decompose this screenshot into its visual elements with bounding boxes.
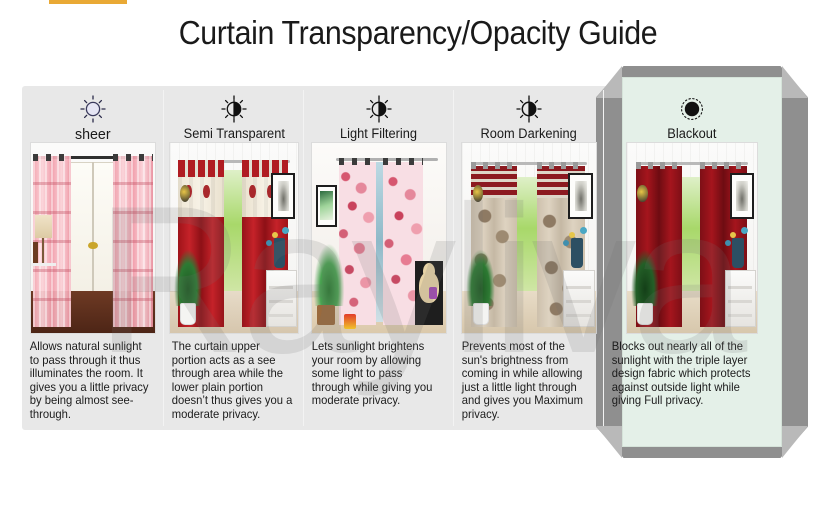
column-light-filtering[interactable]: Light Filtering: [304, 86, 454, 430]
column-caption: Prevents most of the sun's brightness fr…: [454, 340, 600, 422]
column-caption: Allows natural sunlight to pass through …: [22, 340, 160, 422]
column-label: sheer: [75, 126, 111, 143]
page-title: Curtain Transparency/Opacity Guide: [33, 14, 802, 52]
column-header-sheer: sheer: [22, 86, 164, 142]
box-bevel-top-right: [782, 66, 808, 98]
column-header-room-darkening: Room Darkening: [454, 86, 604, 142]
sun-mostly-filled-icon: [512, 94, 546, 124]
column-room-darkening[interactable]: Room Darkening: [454, 86, 604, 430]
curtain-photo-light-filtering: [311, 142, 447, 334]
column-caption: The curtain upper portion acts as a see …: [164, 340, 300, 422]
box-bevel-bottom-right: [782, 426, 808, 458]
column-label: Semi Transparent: [183, 126, 284, 141]
curtain-photo-blackout: [626, 142, 758, 334]
curtain-photo-sheer: [30, 142, 156, 334]
column-header-blackout: Blackout: [604, 86, 780, 142]
column-blackout[interactable]: Blackout Blocks out nea: [604, 86, 780, 430]
column-label: Light Filtering: [340, 126, 417, 141]
sun-half-filled-icon: [217, 94, 251, 124]
sun-solid-filled-icon: [675, 94, 709, 124]
sun-half-filled-icon: [362, 94, 396, 124]
top-accent-bar: [49, 0, 127, 4]
curtain-photo-semi-transparent: [169, 142, 299, 334]
curtain-photo-room-darkening: [461, 142, 597, 334]
sun-open-circle-icon: [76, 94, 110, 124]
column-caption: Lets sunlight brightens your room by all…: [304, 340, 450, 408]
box-bevel-bottom-left: [596, 426, 622, 458]
column-header-light-filtering: Light Filtering: [304, 86, 454, 142]
column-label: Blackout: [667, 126, 716, 141]
column-caption: Blocks out nearly all of the sunlight wi…: [604, 340, 775, 408]
column-sheer[interactable]: sheer Allows natural sunlight to: [22, 86, 164, 430]
column-semi-transparent[interactable]: Semi Transparent: [164, 86, 304, 430]
opacity-columns: sheer Allows natural sunlight to: [22, 86, 780, 430]
column-label: Room Darkening: [481, 126, 577, 141]
column-header-semi-transparent: Semi Transparent: [164, 86, 304, 142]
